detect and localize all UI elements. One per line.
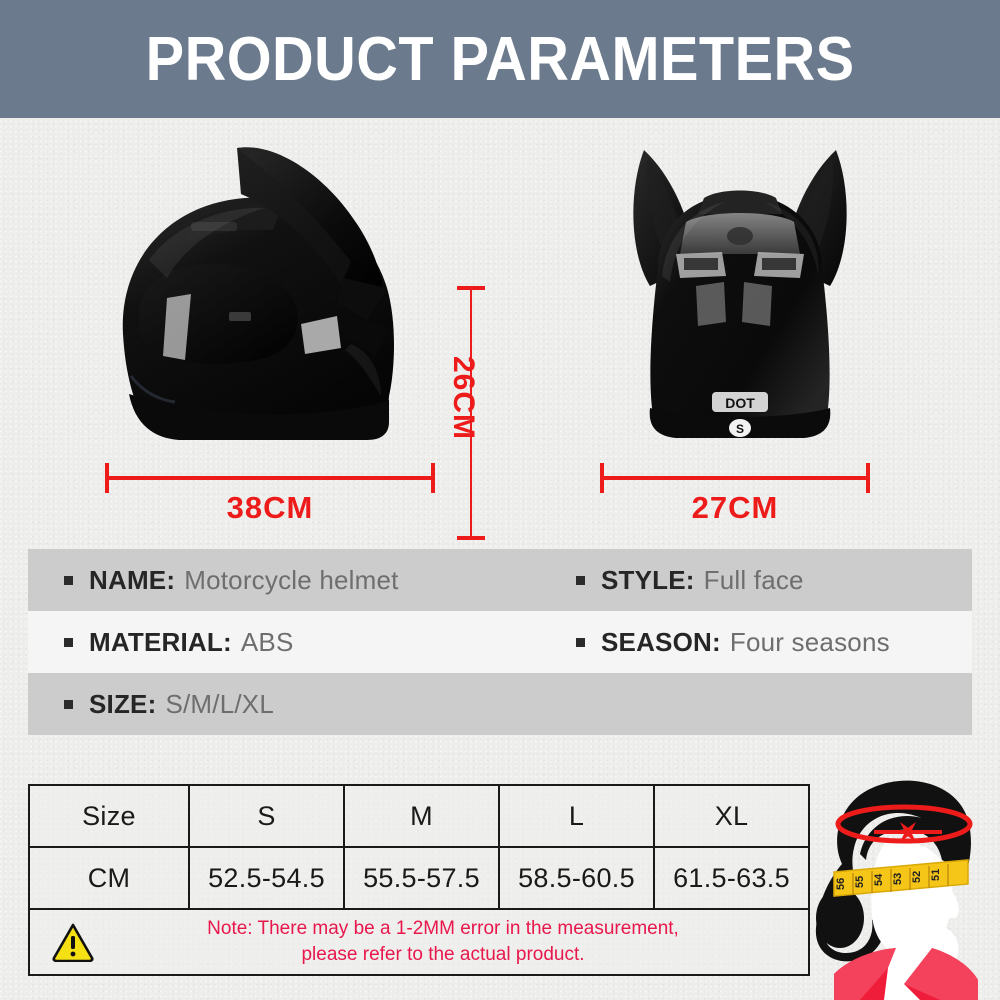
svg-text:53: 53 xyxy=(892,873,904,885)
table-cell: CM xyxy=(29,847,189,909)
head-measurement-illustration: 56 55 54 53 52 51 xyxy=(800,768,1000,1000)
spec-value: ABS xyxy=(241,627,294,658)
page-header: PRODUCT PARAMETERS xyxy=(0,0,1000,118)
bullet-square-icon xyxy=(576,638,585,647)
spec-label: STYLE: xyxy=(601,565,695,596)
front-width-dimension-label: 27CM xyxy=(600,490,870,526)
table-cell: S xyxy=(189,785,344,847)
height-dimension-label: 26CM xyxy=(446,356,480,440)
front-width-dimension-line xyxy=(600,476,870,480)
dot-sticker: DOT xyxy=(712,392,768,412)
helmet-side-view xyxy=(105,138,435,468)
spec-value: Four seasons xyxy=(730,627,890,658)
spec-item-material: MATERIAL: ABS xyxy=(64,627,294,658)
table-cell: L xyxy=(499,785,654,847)
svg-text:51: 51 xyxy=(930,869,942,881)
helmet-front-view: DOT S xyxy=(600,136,880,466)
side-width-dimension-label: 38CM xyxy=(105,490,435,526)
spec-label: SEASON: xyxy=(601,627,721,658)
table-cell: M xyxy=(344,785,499,847)
table-cell: 52.5-54.5 xyxy=(189,847,344,909)
table-cell: 55.5-57.5 xyxy=(344,847,499,909)
bullet-square-icon xyxy=(64,576,73,585)
note-text: Note: There may be a 1-2MM error in the … xyxy=(108,916,808,967)
spec-item-size: SIZE: S/M/L/XL xyxy=(64,689,274,720)
svg-text:S: S xyxy=(736,422,744,436)
size-badge: S xyxy=(729,419,751,437)
spec-item-season: SEASON: Four seasons xyxy=(576,627,890,658)
table-cell: Size xyxy=(29,785,189,847)
spec-label: MATERIAL: xyxy=(89,627,232,658)
svg-text:56: 56 xyxy=(835,878,847,890)
note-line-2: please refer to the actual product. xyxy=(108,942,778,968)
product-image-section: DOT S 26CM 38CM 27CM xyxy=(0,118,1000,538)
spec-item-name: NAME: Motorcycle helmet xyxy=(64,565,399,596)
spec-value: Motorcycle helmet xyxy=(184,565,398,596)
spec-value: S/M/L/XL xyxy=(165,689,274,720)
table-cell: 61.5-63.5 xyxy=(654,847,809,909)
spec-label: NAME: xyxy=(89,565,175,596)
infographic-page: PRODUCT PARAMETERS xyxy=(0,0,1000,1000)
note-line-1: Note: There may be a 1-2MM error in the … xyxy=(108,916,778,942)
side-width-dimension-line xyxy=(105,476,435,480)
svg-text:54: 54 xyxy=(873,873,885,886)
page-title: PRODUCT PARAMETERS xyxy=(146,24,855,95)
size-chart-table: Size S M L XL CM 52.5-54.5 55.5-57.5 58.… xyxy=(28,784,810,910)
svg-text:52: 52 xyxy=(911,871,923,883)
specification-list: NAME: Motorcycle helmet STYLE: Full face… xyxy=(28,549,972,735)
bullet-square-icon xyxy=(576,576,585,585)
svg-text:55: 55 xyxy=(854,876,866,888)
table-cell: XL xyxy=(654,785,809,847)
warning-triangle-icon xyxy=(52,922,94,962)
spec-row: SIZE: S/M/L/XL xyxy=(28,673,972,735)
spec-item-style: STYLE: Full face xyxy=(576,565,804,596)
table-cell: 58.5-60.5 xyxy=(499,847,654,909)
table-row-data: CM 52.5-54.5 55.5-57.5 58.5-60.5 61.5-63… xyxy=(29,847,809,909)
table-row-header: Size S M L XL xyxy=(29,785,809,847)
spec-value: Full face xyxy=(704,565,804,596)
bullet-square-icon xyxy=(64,638,73,647)
measurement-note: Note: There may be a 1-2MM error in the … xyxy=(28,908,810,976)
bullet-square-icon xyxy=(64,700,73,709)
svg-text:DOT: DOT xyxy=(725,395,755,411)
spec-row: NAME: Motorcycle helmet STYLE: Full face xyxy=(28,549,972,611)
spec-row: MATERIAL: ABS SEASON: Four seasons xyxy=(28,611,972,673)
spec-label: SIZE: xyxy=(89,689,156,720)
